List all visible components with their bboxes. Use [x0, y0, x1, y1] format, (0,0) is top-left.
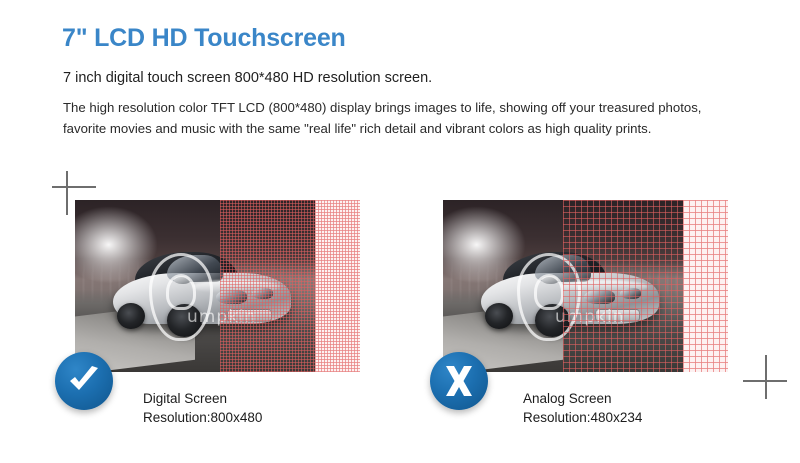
- panel-analog-screen: umpkin: [443, 200, 683, 372]
- analog-screen-photo: umpkin: [443, 200, 683, 372]
- crop-mark-bottom-right-icon: [743, 353, 787, 397]
- caption-analog-resolution: Resolution:480x234: [523, 408, 642, 427]
- car-front-wheel: [535, 304, 571, 337]
- caption-digital-resolution: Resolution:800x480: [143, 408, 262, 427]
- crop-mark-horizontal-line: [52, 186, 96, 188]
- check-icon: [67, 366, 101, 396]
- panel-digital-screen: umpkin: [75, 200, 315, 372]
- car-rear-wheel: [485, 303, 513, 329]
- description-paragraph: The high resolution color TFT LCD (800*4…: [63, 97, 723, 139]
- car-shape: [113, 252, 291, 335]
- check-badge: [55, 352, 113, 410]
- caption-analog: Analog Screen Resolution:480x234: [523, 389, 642, 427]
- car-headlight-right: [252, 288, 273, 299]
- page-title: 7" LCD HD Touchscreen: [62, 24, 346, 53]
- crop-mark-vertical-line: [66, 171, 68, 215]
- lead-text: 7 inch digital touch screen 800*480 HD r…: [63, 70, 432, 86]
- car-front-plate: [227, 309, 272, 322]
- car-front-plate: [595, 309, 640, 322]
- car-front-wheel: [167, 304, 203, 337]
- caption-digital: Digital Screen Resolution:800x480: [143, 389, 262, 427]
- car-mirror: [542, 276, 558, 283]
- sports-car-photo-image: umpkin: [75, 200, 315, 372]
- car-headlight-left: [216, 290, 246, 304]
- x-icon: [444, 366, 474, 396]
- car-headlight-right: [620, 288, 641, 299]
- car-rear-wheel: [117, 303, 145, 329]
- car-mirror: [174, 276, 190, 283]
- caption-analog-title: Analog Screen: [523, 389, 642, 408]
- car-headlight-left: [584, 290, 614, 304]
- magnified-pixel-grid-fine: [315, 200, 360, 372]
- cross-badge: [430, 352, 488, 410]
- car-shape: [481, 252, 659, 335]
- crop-mark-vertical-line: [765, 355, 767, 399]
- sports-car-photo-image: umpkin: [443, 200, 683, 372]
- magnified-pixel-grid-coarse: [683, 200, 728, 372]
- caption-digital-title: Digital Screen: [143, 389, 262, 408]
- digital-screen-photo: umpkin: [75, 200, 315, 372]
- crop-mark-horizontal-line: [743, 380, 787, 382]
